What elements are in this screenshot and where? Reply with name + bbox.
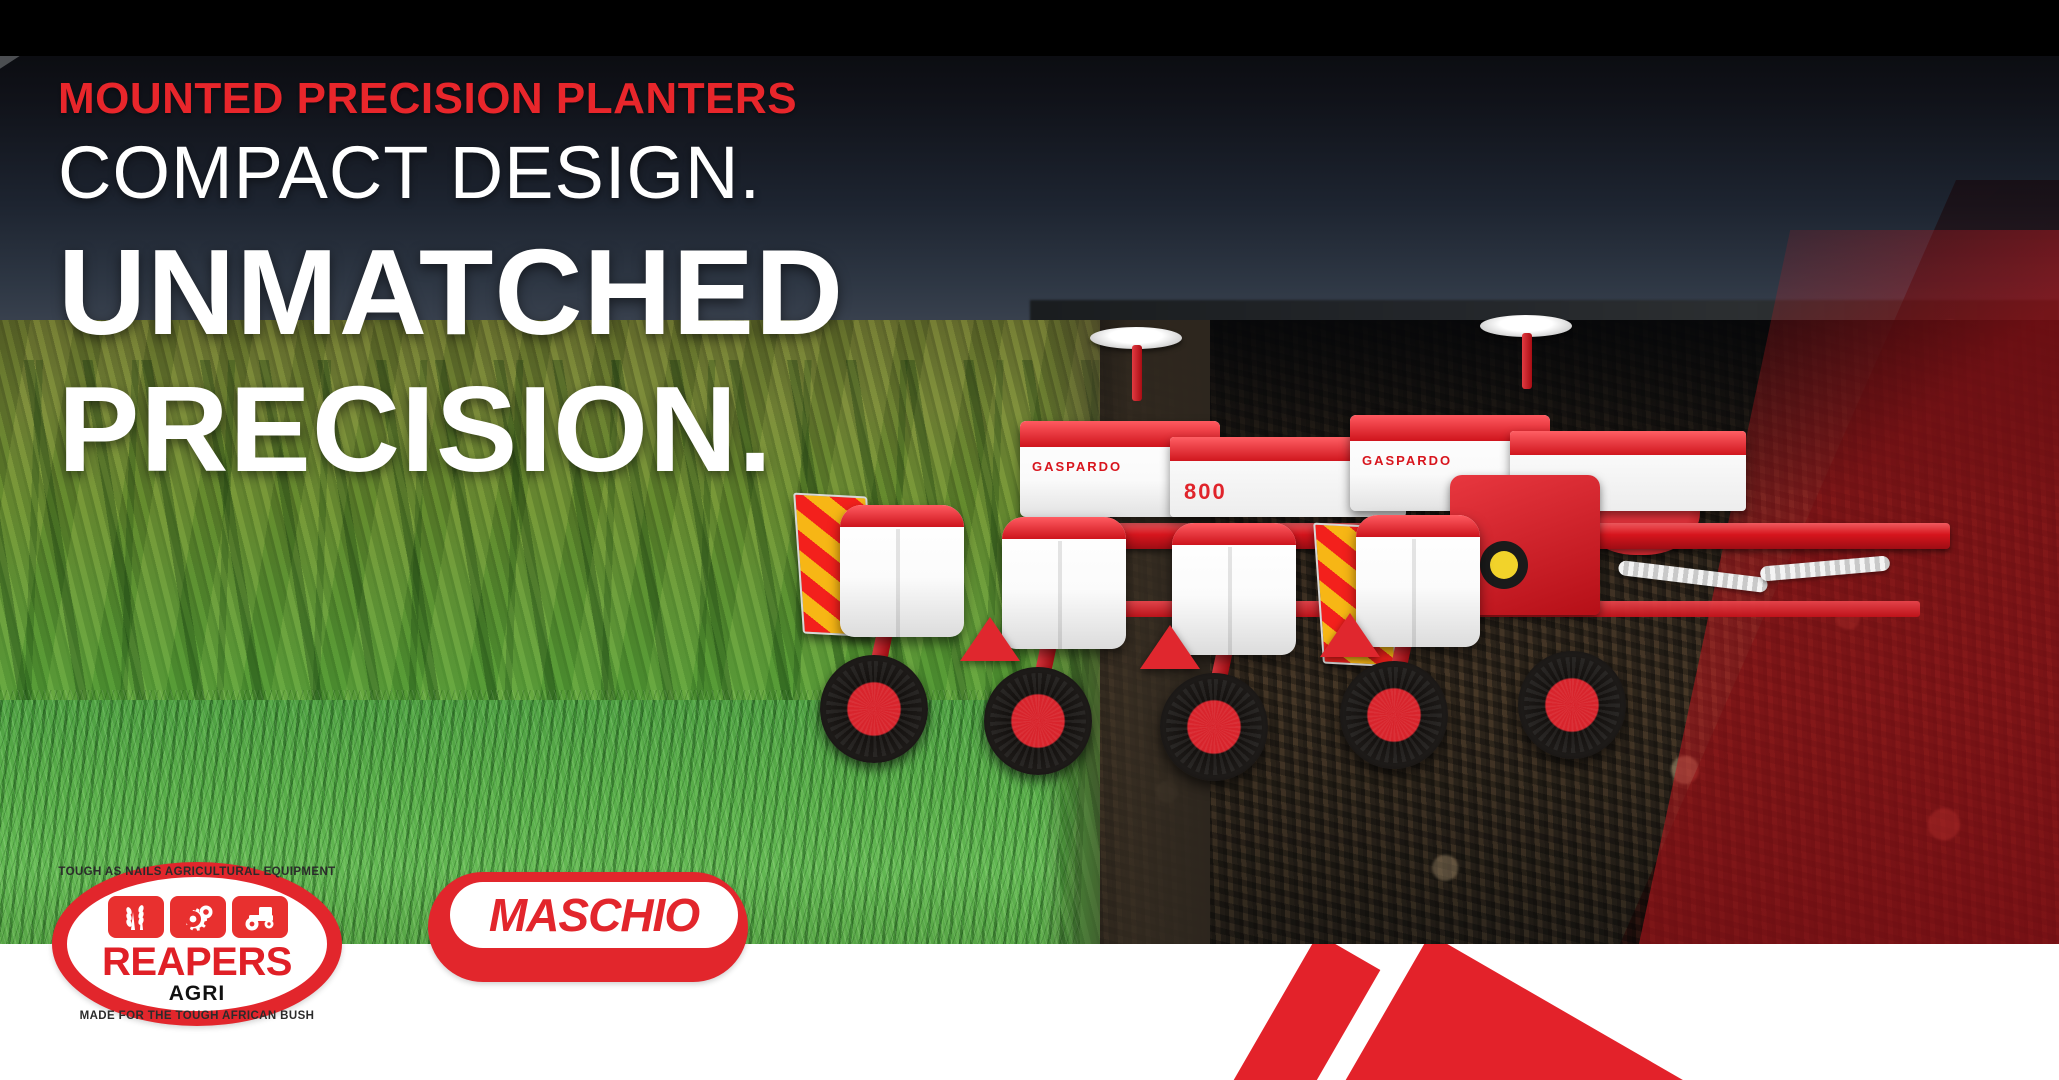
- coulter-icon: [960, 617, 1020, 661]
- logo-sub-wordmark: AGRI: [52, 982, 342, 1006]
- wheat-icon: [108, 896, 164, 938]
- reapers-agri-logo[interactable]: TOUGH AS NAILS AGRICULTURAL EQUIPMENT: [52, 862, 342, 1026]
- machine-brand-label: GASPARDO: [1362, 453, 1452, 468]
- gauge-wheel-icon: [1160, 673, 1268, 781]
- seed-hopper-icon: [840, 505, 964, 637]
- red-diagonal-stripe: [1108, 944, 1380, 1080]
- drive-hub-icon: [1490, 551, 1518, 579]
- seed-hose: [1618, 560, 1769, 593]
- tractor-icon: [232, 896, 288, 938]
- eyebrow-text: MOUNTED PRECISION PLANTERS: [58, 76, 844, 122]
- logo-arc-bottom-text: MADE FOR THE TOUGH AFRICAN BUSH: [52, 1010, 342, 1022]
- marker-disc-arm: [1132, 345, 1142, 401]
- maschio-pill-inner: MASCHIO: [450, 882, 738, 948]
- gears-icon: [170, 896, 226, 938]
- logo-wordmark: REAPERS: [52, 942, 342, 982]
- coulter-icon: [1140, 625, 1200, 669]
- headline-line-2: COMPACT DESIGN.: [58, 136, 844, 210]
- coulter-icon: [1320, 613, 1380, 657]
- gauge-wheel-icon: [984, 667, 1092, 775]
- seed-hopper-icon: [1002, 517, 1126, 649]
- maschio-logo[interactable]: MASCHIO: [428, 872, 748, 982]
- machine-model-label: 800: [1184, 479, 1227, 505]
- maschio-wordmark: MASCHIO: [489, 888, 699, 942]
- gauge-wheel-icon: [1518, 651, 1626, 759]
- headline-line-4: PRECISION.: [58, 361, 844, 498]
- logo-icon-tiles: [104, 896, 292, 938]
- promotional-banner: GASPARDO 800 GASPARDO 800: [0, 0, 2059, 1080]
- marker-disc-arm: [1522, 333, 1532, 389]
- precision-planter-machine: GASPARDO 800 GASPARDO 800: [1020, 355, 2059, 915]
- headline-line-3: UNMATCHED: [58, 224, 844, 361]
- seed-hose: [1760, 555, 1891, 581]
- headline-block: MOUNTED PRECISION PLANTERS COMPACT DESIG…: [58, 76, 844, 497]
- gauge-wheel-icon: [820, 655, 928, 763]
- gauge-wheel-icon: [1340, 661, 1448, 769]
- machine-brand-label: GASPARDO: [1032, 459, 1122, 474]
- logo-arc-top-text: TOUGH AS NAILS AGRICULTURAL EQUIPMENT: [52, 866, 342, 878]
- top-black-band: [0, 0, 2059, 56]
